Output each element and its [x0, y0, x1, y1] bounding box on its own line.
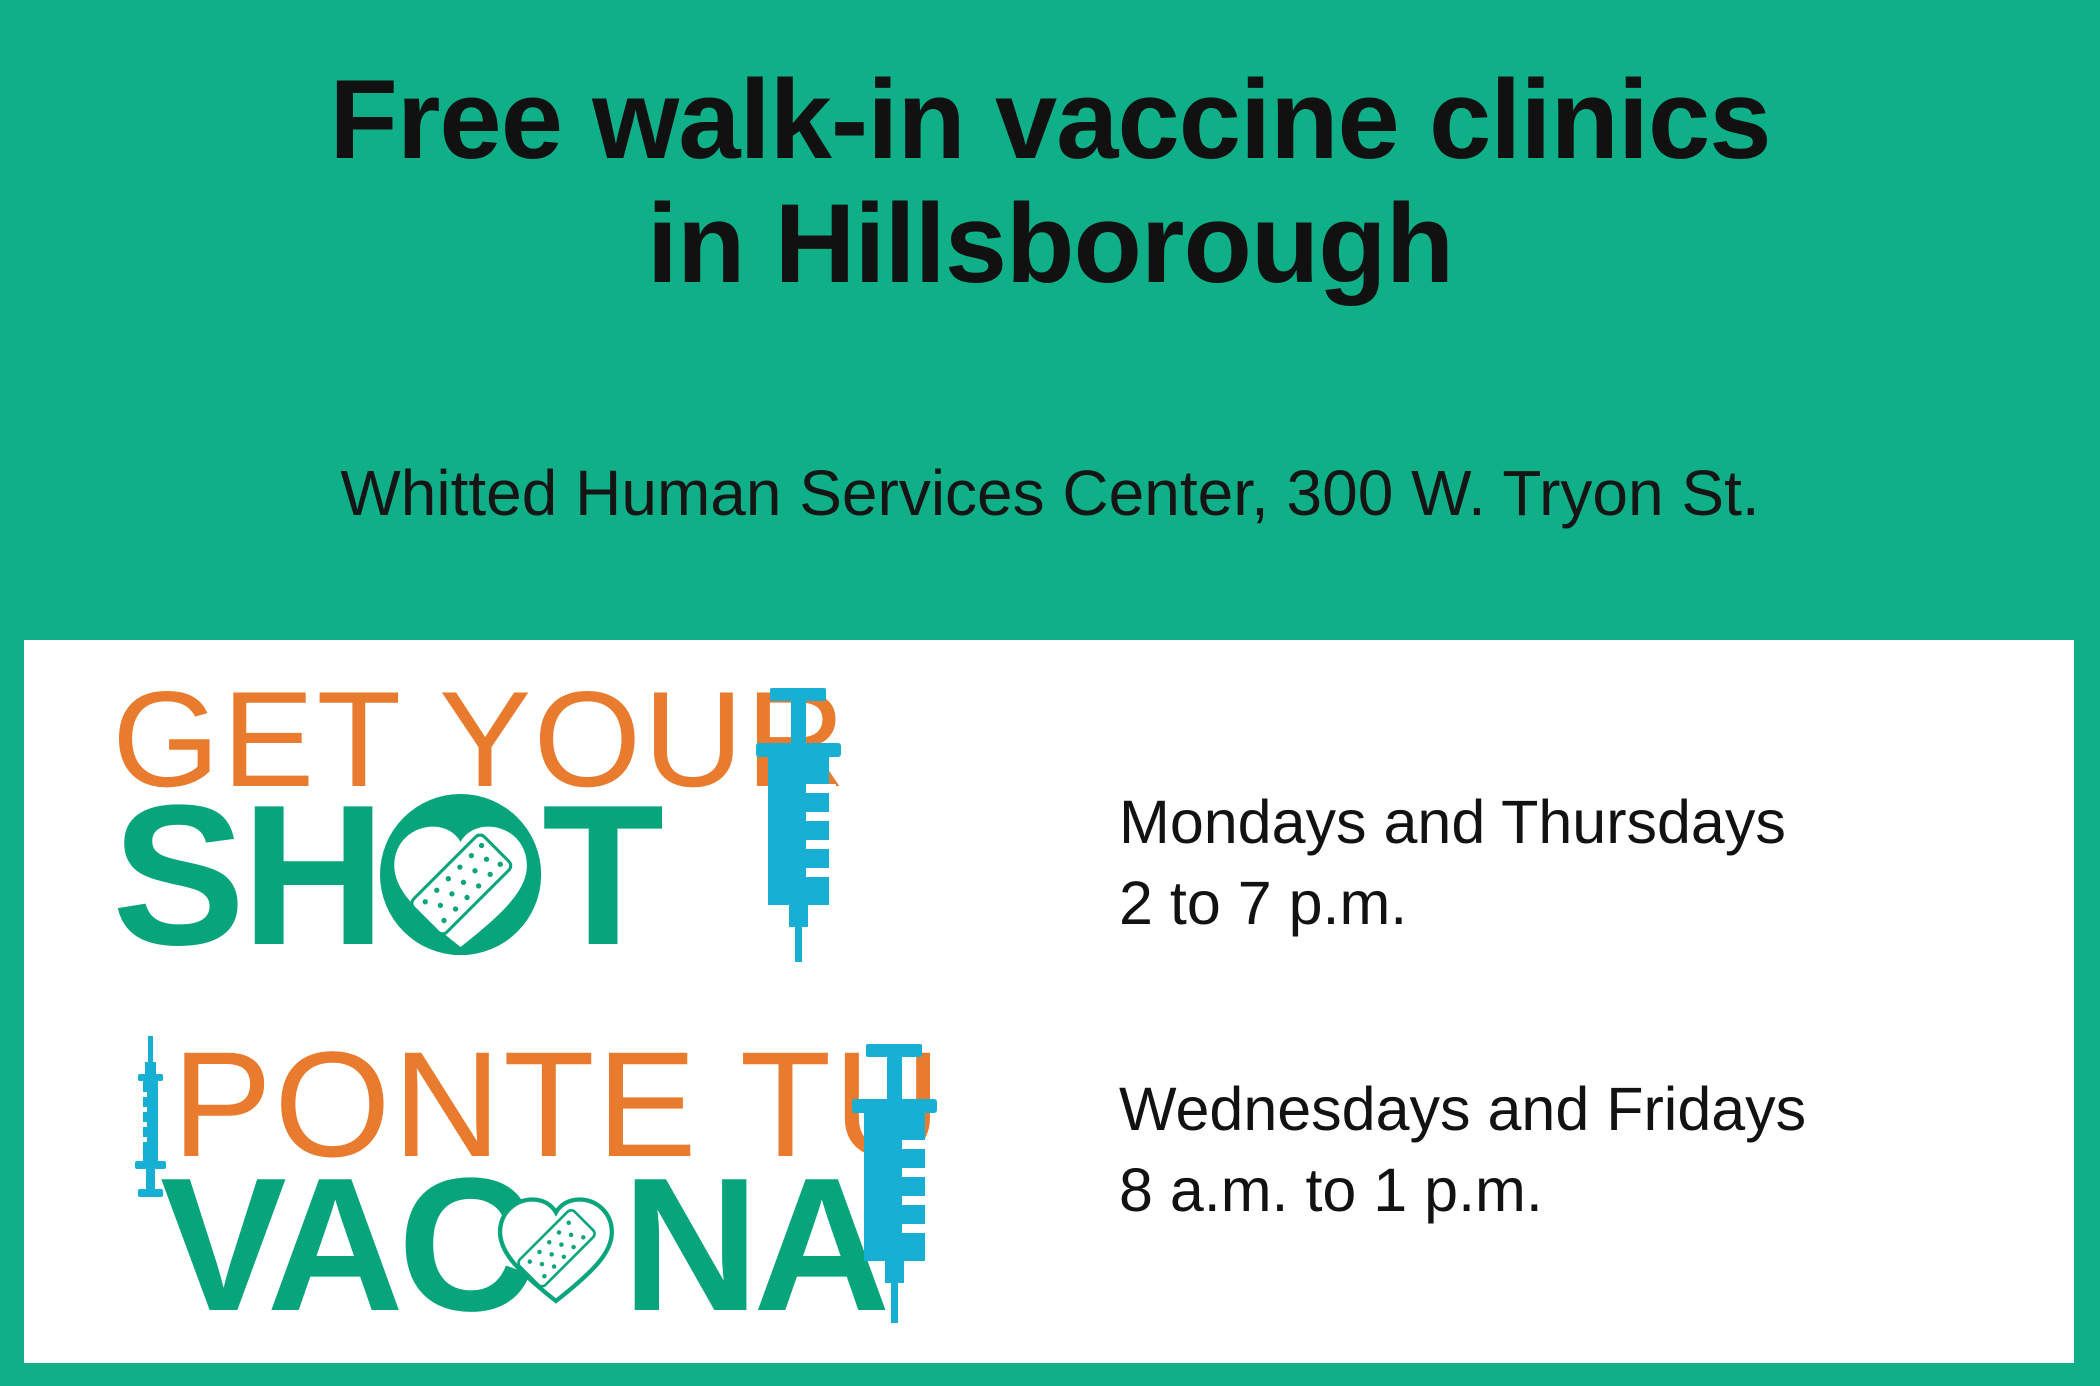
schedule-entry: Mondays and Thursdays 2 to 7 p.m. — [1119, 782, 2074, 943]
vaccine-clinic-poster: Free walk-in vaccine clinics in Hillsbor… — [0, 0, 2100, 1386]
ponte-tu-vacuna-logo: PONTE TU VAC NA — [132, 1030, 952, 1325]
page-title: Free walk-in vaccine clinics in Hillsbor… — [60, 58, 2040, 307]
get-your-shot-logo: GET YOUR SH T — [112, 682, 952, 962]
svg-text:T: T — [542, 764, 663, 962]
bandage-heart-icon — [380, 794, 541, 955]
schedule-days: Mondays and Thursdays — [1119, 782, 2074, 863]
schedule-days: Wednesdays and Fridays — [1119, 1069, 2074, 1150]
svg-text:NA: NA — [622, 1139, 886, 1325]
schedule-hours: 2 to 7 p.m. — [1119, 863, 2074, 944]
title-line-1: Free walk-in vaccine clinics — [60, 58, 2040, 182]
campaign-logo-group: GET YOUR SH T — [24, 640, 1039, 1363]
clinic-schedule: Mondays and Thursdays 2 to 7 p.m. Wednes… — [1039, 640, 2074, 1363]
svg-text:VAC: VAC — [160, 1139, 531, 1325]
poster-header: Free walk-in vaccine clinics in Hillsbor… — [0, 0, 2100, 640]
venue-address: Whitted Human Services Center, 300 W. Tr… — [60, 455, 2040, 532]
schedule-hours: 8 a.m. to 1 p.m. — [1119, 1150, 2074, 1231]
title-line-2: in Hillsborough — [60, 182, 2040, 306]
svg-text:SH: SH — [112, 764, 382, 962]
schedule-entry: Wednesdays and Fridays 8 a.m. to 1 p.m. — [1119, 1069, 2074, 1230]
info-card: GET YOUR SH T — [24, 640, 2074, 1363]
